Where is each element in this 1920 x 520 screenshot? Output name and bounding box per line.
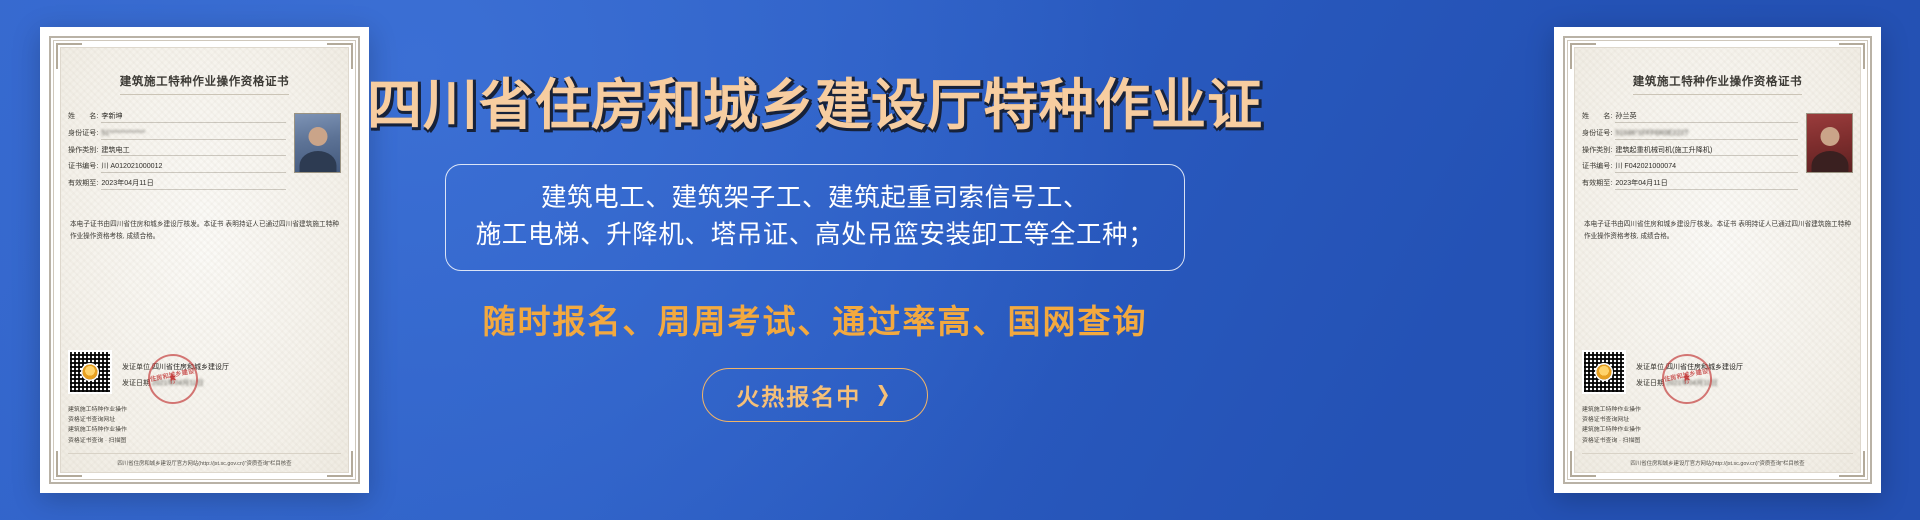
note-line: 资格证书查询网址 [1582,415,1853,425]
enroll-now-button[interactable]: 火热报名中 ❯ [702,368,928,422]
paragraph-line-1: 本电子证书由四川省住房和城乡建设厅核发。本证书 [1584,221,1736,228]
field-label: 姓 名: [68,113,98,121]
qr-code [68,350,112,394]
scope-line-1: 建筑电工、建筑架子工、建筑起重司索信号工、 [456,180,1174,217]
field-label: 操作类别: [68,147,98,155]
certificate-field-list: 姓 名:李新坤 身份证号:51************* 操作类别:建筑电工 证… [68,113,286,197]
field-value: 建筑起重机械司机(施工升降机) [1615,147,1798,157]
note-line: 建筑施工特种作业操作 [68,405,341,415]
title-divider [120,94,289,95]
promo-banner: 建筑施工特种作业操作资格证书 姓 名:李新坤 身份证号:51**********… [0,0,1920,520]
field-label: 身份证号: [68,130,98,138]
field-row: 身份证号:51************* [68,130,286,140]
certificate-footer-block: 发证单位 四川省住房和城乡建设厅 发证日期 2021年04月11日 住房和城乡建… [1582,350,1853,398]
field-value: 2023年04月11日 [1615,180,1798,190]
field-value: 51************* [101,130,286,140]
note-line: 建筑施工特种作业操作 [1582,425,1853,435]
certificate-verify-footer: 四川省住房和城乡建设厅官方网站(http://jst.sc.gov.cn)"资质… [68,453,341,467]
field-label: 操作类别: [1582,147,1612,155]
field-label: 姓 名: [1582,113,1612,121]
field-label: 证书编号: [68,163,98,171]
certificate-body: 姓 名:李新坤 身份证号:51************* 操作类别:建筑电工 证… [68,113,341,197]
enroll-now-label: 火热报名中 [736,378,861,412]
paragraph-line-3: 成绩合格。 [126,233,159,240]
certificate-content-right: 建筑施工特种作业操作资格证书 姓 名:孙兰英 身份证号:51046*1FFF6R… [1582,53,1853,467]
field-value: 51046*1FFF6R0E222T [1615,130,1798,140]
certificate-card-right: 建筑施工特种作业操作资格证书 姓 名:孙兰英 身份证号:51046*1FFF6R… [1554,27,1881,493]
certificate-paragraph: 本电子证书由四川省住房和城乡建设厅核发。本证书 表明持证人已通过四川省建筑施工特… [1582,219,1853,243]
field-value: 建筑电工 [101,147,286,157]
note-line: 资格证书查询 · 扫描图 [68,436,341,446]
official-seal-stamp: 住房和城乡建设厅 [1658,349,1717,408]
issuer-block: 发证单位 四川省住房和城乡建设厅 发证日期 2021年04月11日 住房和城乡建… [122,362,341,394]
field-row: 有效期至:2023年04月11日 [1582,180,1798,190]
field-value: 孙兰英 [1615,113,1798,123]
certificate-footer-block: 发证单位 四川省住房和城乡建设厅 发证日期 2021年04月11日 住房和城乡建… [68,350,341,398]
certificate-card-left: 建筑施工特种作业操作资格证书 姓 名:李新坤 身份证号:51**********… [40,27,369,493]
certificate-paragraph: 本电子证书由四川省住房和城乡建设厅核发。本证书 表明持证人已通过四川省建筑施工特… [68,219,341,243]
field-label: 身份证号: [1582,130,1612,138]
note-line: 资格证书查询网址 [68,415,341,425]
field-row: 姓 名:李新坤 [68,113,286,123]
field-row: 操作类别:建筑电工 [68,147,286,157]
banner-center-content: 四川省住房和城乡建设厅特种作业证 建筑电工、建筑架子工、建筑起重司索信号工、 施… [412,0,1218,520]
note-line: 建筑施工特种作业操作 [1582,405,1853,415]
official-seal-stamp: 住房和城乡建设厅 [144,349,203,408]
field-row: 操作类别:建筑起重机械司机(施工升降机) [1582,147,1798,157]
certificate-frame-left: 建筑施工特种作业操作资格证书 姓 名:李新坤 身份证号:51**********… [40,27,369,493]
certificate-body: 姓 名:孙兰英 身份证号:51046*1FFF6R0E222T 操作类别:建筑起… [1582,113,1853,197]
issuer-label: 发证单位 [1636,364,1664,371]
field-value: 川 F042021000074 [1615,163,1798,173]
issuer-block: 发证单位 四川省住房和城乡建设厅 发证日期 2021年04月11日 住房和城乡建… [1636,362,1853,394]
issue-date-label: 发证日期 [1636,380,1664,387]
field-label: 有效期至: [68,180,98,188]
page-title: 四川省住房和城乡建设厅特种作业证 [367,78,1263,133]
certificate-title: 建筑施工特种作业操作资格证书 [68,73,341,89]
field-value: 李新坤 [101,113,286,123]
marketing-slogan: 随时报名、周周考试、通过率高、国网查询 [483,295,1148,343]
field-row: 有效期至:2023年04月11日 [68,180,286,190]
certificate-field-list: 姓 名:孙兰英 身份证号:51046*1FFF6R0E222T 操作类别:建筑起… [1582,113,1798,197]
certificate-notes: 建筑施工特种作业操作 资格证书查询网址 建筑施工特种作业操作 资格证书查询 · … [1582,405,1853,446]
qr-code [1582,350,1626,394]
holder-photo [1806,113,1853,173]
field-row: 证书编号:川 F042021000074 [1582,163,1798,173]
certificate-notes: 建筑施工特种作业操作 资格证书查询网址 建筑施工特种作业操作 资格证书查询 · … [68,405,341,446]
scope-of-work-box: 建筑电工、建筑架子工、建筑起重司索信号工、 施工电梯、升降机、塔吊证、高处吊篮安… [445,164,1185,271]
paragraph-line-1: 本电子证书由四川省住房和城乡建设厅核发。本证书 [70,221,224,228]
note-line: 资格证书查询 · 扫描图 [1582,436,1853,446]
certificate-title: 建筑施工特种作业操作资格证书 [1582,73,1853,89]
paragraph-line-3: 成绩合格。 [1640,233,1673,240]
field-value: 川 A012021000012 [101,163,286,173]
certificate-content-left: 建筑施工特种作业操作资格证书 姓 名:李新坤 身份证号:51**********… [68,53,341,467]
field-value: 2023年04月11日 [101,180,286,190]
chevron-right-icon: ❯ [876,384,893,405]
holder-photo [294,113,341,173]
title-divider [1633,94,1801,95]
field-row: 姓 名:孙兰英 [1582,113,1798,123]
issuer-label: 发证单位 [122,364,150,371]
field-label: 证书编号: [1582,163,1612,171]
field-row: 身份证号:51046*1FFF6R0E222T [1582,130,1798,140]
certificate-frame-right: 建筑施工特种作业操作资格证书 姓 名:孙兰英 身份证号:51046*1FFF6R… [1554,27,1881,493]
field-label: 有效期至: [1582,180,1612,188]
certificate-verify-footer: 四川省住房和城乡建设厅官方网站(http://jst.sc.gov.cn)"资质… [1582,453,1853,467]
note-line: 建筑施工特种作业操作 [68,425,341,435]
scope-line-2: 施工电梯、升降机、塔吊证、高处吊篮安装卸工等全工种； [456,217,1174,254]
issue-date-label: 发证日期 [122,380,150,387]
field-row: 证书编号:川 A012021000012 [68,163,286,173]
